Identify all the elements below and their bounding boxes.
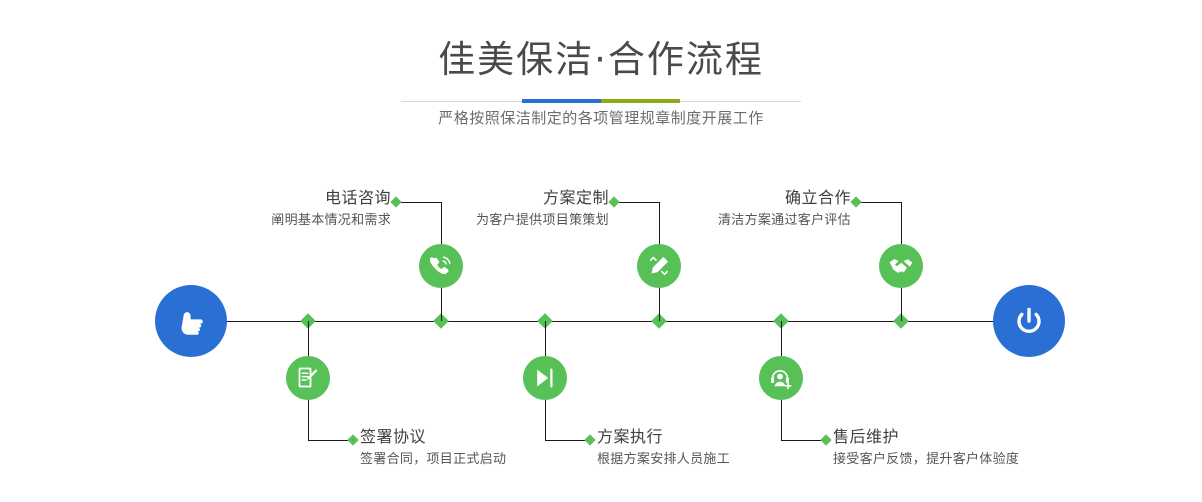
step-title: 售后维护 [833, 427, 1163, 447]
step-title: 方案定制 [344, 188, 609, 208]
document-edit-icon [295, 365, 321, 391]
page-subtitle: 严格按照保洁制定的各项管理规章制度开展工作 [0, 107, 1202, 129]
step-icon-agreement[interactable] [286, 356, 330, 400]
label-marker [347, 434, 358, 445]
step-label-6: 售后维护 接受客户反馈，提升客户体验度 [833, 427, 1163, 469]
label-marker [850, 196, 861, 207]
connector-horizontal [781, 440, 826, 441]
step-desc: 清洁方案通过客户评估 [586, 211, 851, 230]
step-icon-aftersales[interactable] [759, 356, 803, 400]
flowchart-canvas: 佳美保洁·合作流程 严格按照保洁制定的各项管理规章制度开展工作 [0, 0, 1202, 502]
title-divider [401, 99, 801, 103]
power-icon [1009, 301, 1049, 341]
step-title: 确立合作 [586, 188, 851, 208]
timeline-start-node [155, 285, 227, 357]
phone-ring-icon [428, 253, 454, 279]
connector-horizontal [856, 202, 901, 203]
step-icon-cooperation[interactable] [879, 244, 923, 288]
play-start-icon [532, 365, 558, 391]
pencil-write-icon [646, 253, 672, 279]
pointing-hand-icon [171, 301, 211, 341]
step-label-5: 确立合作 清洁方案通过客户评估 [586, 188, 851, 230]
connector-horizontal [308, 440, 353, 441]
step-label-3: 方案定制 为客户提供项目策策划 [344, 188, 609, 230]
divider-segment-green [601, 99, 680, 103]
step-desc: 接受客户反馈，提升客户体验度 [833, 450, 1163, 469]
customer-service-add-icon [768, 365, 794, 391]
step-icon-execute[interactable] [523, 356, 567, 400]
divider-segment-blue [522, 99, 601, 103]
step-icon-phone[interactable] [419, 244, 463, 288]
step-icon-plan[interactable] [637, 244, 681, 288]
connector-horizontal [545, 440, 590, 441]
step-desc: 为客户提供项目策策划 [344, 211, 609, 230]
handshake-icon [888, 253, 914, 279]
timeline-end-node [993, 285, 1065, 357]
page-title: 佳美保洁·合作流程 [0, 38, 1202, 82]
